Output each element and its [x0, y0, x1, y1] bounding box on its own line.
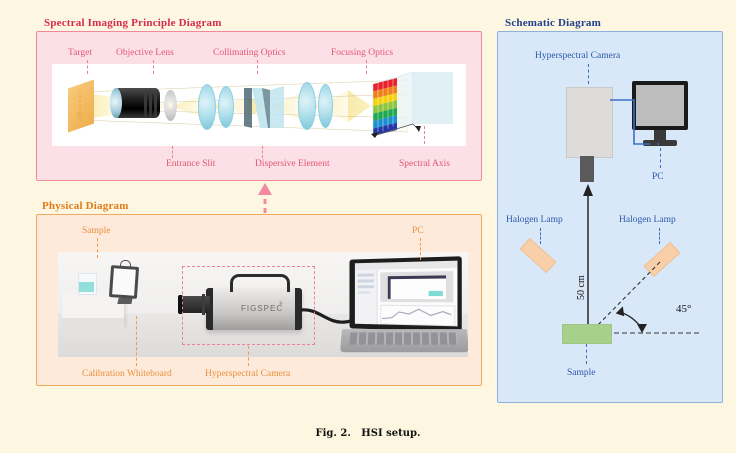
tick-pc	[420, 238, 421, 260]
laptop-screen	[355, 261, 458, 327]
tick-objective-lens	[153, 60, 154, 74]
caption-label: Fig. 2.	[316, 428, 351, 439]
tick-target	[87, 60, 88, 74]
tick-calibration-whiteboard	[136, 316, 137, 366]
schematic-cable	[610, 96, 650, 166]
monitor-cable	[648, 143, 668, 165]
collimating-lens	[198, 84, 216, 130]
collimating-lens-2	[218, 86, 234, 128]
label-schematic-sample: Sample	[567, 368, 596, 378]
spectral-data-cube	[357, 68, 467, 144]
tick-halogen-lamp-left	[540, 228, 541, 244]
panel-connector-arrow-icon	[253, 181, 277, 215]
label-focusing-optics: Focusing Optics	[331, 48, 393, 58]
spectral-panel-title: Spectral Imaging Principle Diagram	[44, 17, 222, 29]
beaker-liquid	[79, 282, 94, 292]
tick-entrance-slit	[172, 146, 173, 158]
slit-aperture	[169, 103, 172, 108]
label-calibration-whiteboard: Calibration Whiteboard	[82, 369, 172, 379]
tick-schematic-camera	[588, 64, 589, 84]
tick-focusing-optics	[366, 60, 367, 74]
label-halogen-lamp-left: Halogen Lamp	[506, 215, 563, 225]
label-target: Target	[68, 48, 92, 58]
label-sample: Sample	[82, 226, 111, 236]
label-hyperspectral-camera: Hyperspectral Camera	[205, 369, 290, 379]
whiteboard-stand	[117, 298, 132, 304]
label-objective-lens: Objective Lens	[116, 48, 174, 58]
tick-schematic-pc	[660, 148, 661, 168]
tick-halogen-lamp-right	[659, 228, 660, 244]
objective-front-element	[110, 88, 122, 118]
spectral-axis-tick	[424, 126, 425, 144]
label-spectral-axis: Spectral Axis	[399, 159, 450, 169]
tick-hyperspectral-camera	[248, 346, 249, 366]
dispersive-element	[240, 80, 296, 134]
tick-sample	[97, 238, 98, 258]
label-halogen-lamp-right: Halogen Lamp	[619, 215, 676, 225]
schematic-panel-title: Schematic Diagram	[505, 17, 601, 29]
target-arrow-icon	[68, 84, 98, 132]
label-collimating-optics: Collimating Optics	[213, 48, 286, 58]
camera-highlight-box	[182, 266, 315, 345]
schematic-sample	[562, 324, 612, 344]
label-dispersive-element: Dispersive Element	[255, 159, 330, 169]
spectral-diagram-area	[52, 64, 466, 146]
focusing-lens-2	[318, 84, 333, 128]
schematic-camera-lens	[580, 156, 594, 182]
physical-panel-title: Physical Diagram	[42, 200, 129, 212]
figure-canvas: Spectral Imaging Principle Diagram	[0, 0, 736, 453]
focusing-lens	[298, 82, 316, 130]
label-entrance-slit: Entrance Slit	[166, 159, 215, 169]
caption-text: HSI setup.	[361, 428, 420, 439]
schematic-camera-body	[566, 87, 613, 158]
calibration-whiteboard	[112, 268, 136, 295]
label-pc: PC	[412, 226, 424, 236]
tick-dispersive-element	[262, 146, 263, 158]
label-illumination-angle: 45°	[676, 303, 691, 315]
tick-collimating-optics	[257, 60, 258, 74]
tick-schematic-sample	[586, 344, 587, 364]
label-schematic-pc: PC	[652, 172, 664, 182]
figure-caption: Fig. 2. HSI setup.	[0, 428, 736, 439]
lens-ring	[149, 88, 152, 118]
whiteboard-handle	[120, 260, 131, 268]
lens-ring	[154, 88, 157, 118]
label-schematic-camera: Hyperspectral Camera	[535, 51, 620, 61]
lens-ring	[144, 88, 147, 118]
